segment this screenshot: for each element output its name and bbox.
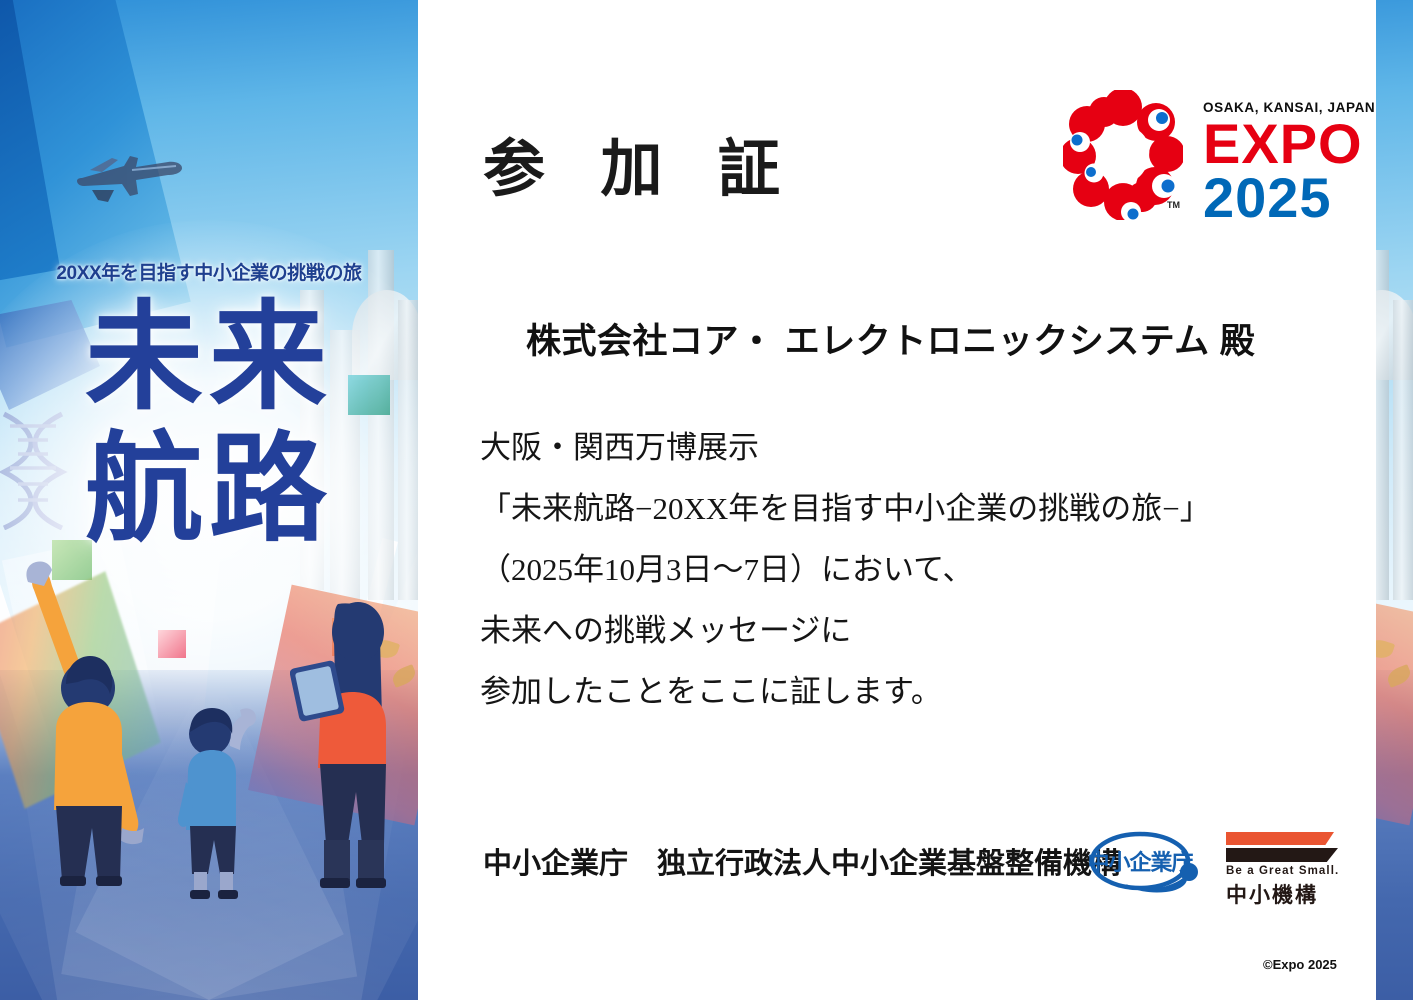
smrj-name: 中小機構 bbox=[1226, 879, 1318, 909]
smrj-logo: Be a Great Small. 中小機構 bbox=[1218, 832, 1346, 900]
certificate-text-line: 参加したことをここに証します。 bbox=[480, 676, 1310, 707]
issuing-organizations: 中小企業庁 独立行政法人中小企業基盤整備機構 bbox=[483, 840, 1121, 882]
trademark-symbol: TM bbox=[1167, 200, 1180, 210]
copyright-notice: ©Expo 2025 bbox=[1263, 957, 1337, 972]
certificate-text-line: 未来への挑戦メッセージに bbox=[480, 615, 1310, 646]
certificate-body: 参 加 証 bbox=[418, 0, 1376, 1000]
svg-text:中小企業庁: 中小企業庁 bbox=[1088, 850, 1193, 875]
certificate-text-line: 大阪・関西万博展示 bbox=[480, 432, 1310, 463]
certificate-text-line: 「未来航路−20XX年を目指す中小企業の挑戦の旅−」 bbox=[480, 493, 1310, 524]
figure-woman bbox=[290, 600, 402, 900]
expo-myakumyaku-ring-icon bbox=[1063, 90, 1183, 220]
certificate-text-line: （2025年10月3日〜7日）において、 bbox=[480, 554, 1310, 585]
smrj-black-bar bbox=[1226, 848, 1338, 862]
poster-artwork-right-edge bbox=[1376, 0, 1413, 1000]
figure-man bbox=[22, 560, 152, 890]
expo-wordmark: EXPO bbox=[1203, 117, 1353, 171]
page-title: 参 加 証 bbox=[483, 118, 800, 208]
poster-artwork: 20XX年を目指す中小企業の挑戦の旅 未来 航路 bbox=[0, 0, 418, 1000]
certificate-page: 20XX年を目指す中小企業の挑戦の旅 未来 航路 参 加 証 bbox=[0, 0, 1413, 1000]
poster-title-line2: 航路 bbox=[0, 428, 418, 553]
certificate-text-block: 大阪・関西万博展示 「未来航路−20XX年を目指す中小企業の挑戦の旅−」 （20… bbox=[480, 432, 1310, 737]
poster-tagline: 20XX年を目指す中小企業の挑戦の旅 bbox=[0, 258, 418, 285]
expo-2025-logo: TM OSAKA, KANSAI, JAPAN EXPO 2025 bbox=[1063, 88, 1348, 233]
poster-title-line1: 未来 bbox=[0, 296, 418, 421]
airplane-icon bbox=[72, 140, 192, 212]
expo-year: 2025 bbox=[1203, 171, 1353, 225]
poster-accent-square-pink bbox=[158, 630, 186, 658]
recipient-name: 株式会社コア・ エレクトロニックシステム 殿 bbox=[526, 313, 1255, 364]
smrj-orange-bar bbox=[1226, 832, 1334, 845]
sme-agency-logo: 中小企業庁 bbox=[1088, 828, 1206, 900]
smrj-tagline: Be a Great Small. bbox=[1226, 865, 1339, 877]
figure-boy bbox=[178, 690, 262, 905]
